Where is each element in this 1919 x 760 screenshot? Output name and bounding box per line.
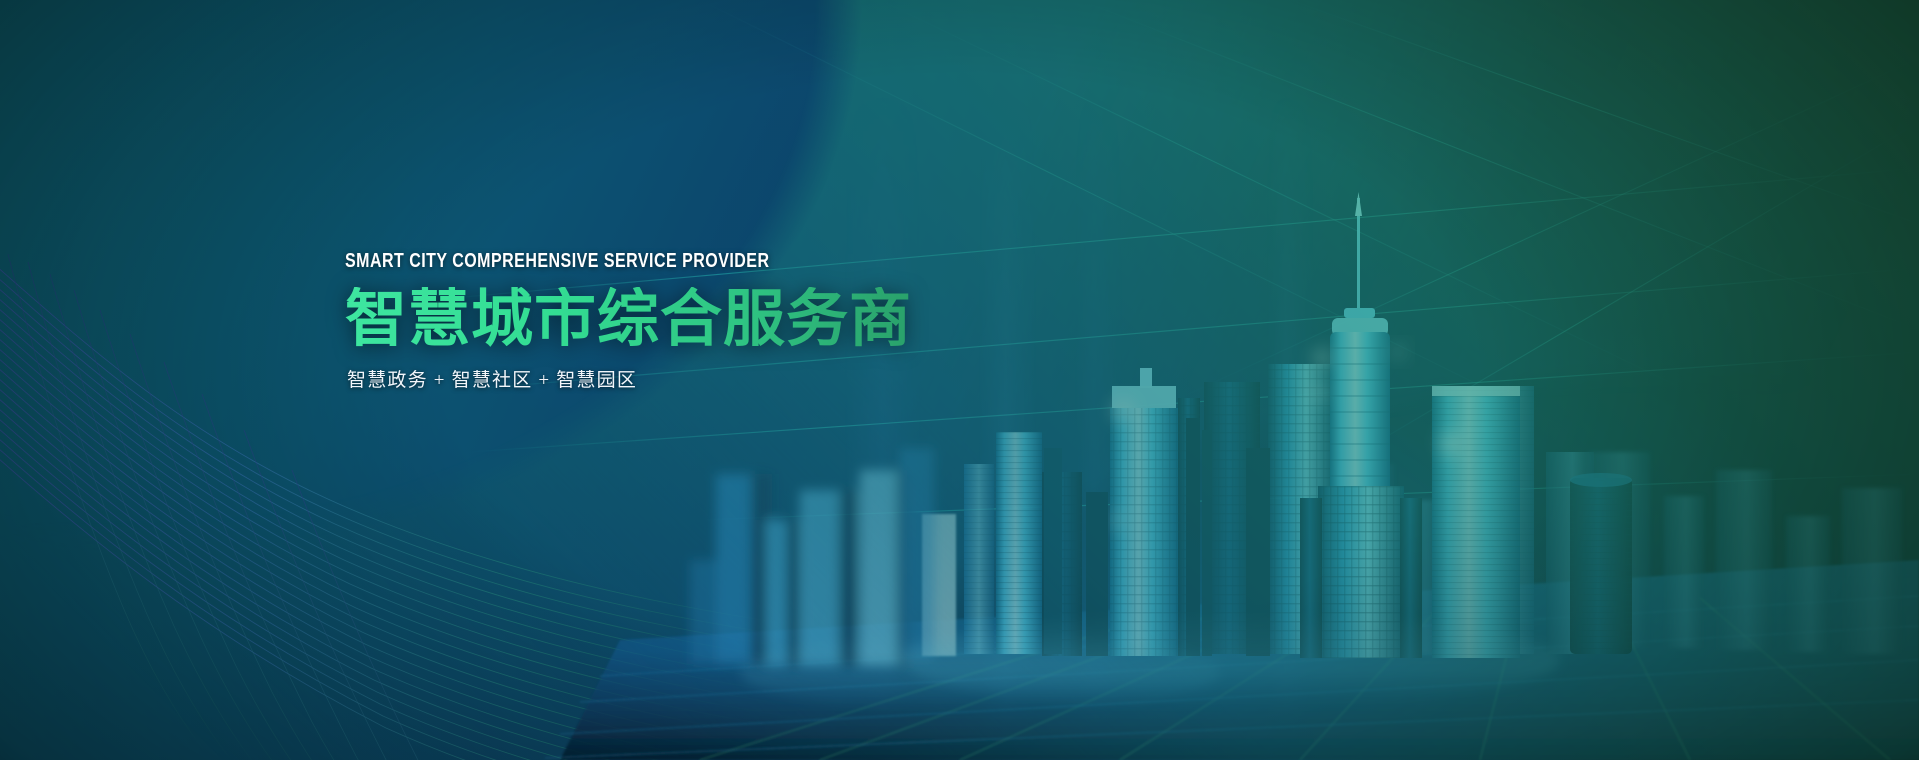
hero-eyebrow-english: SMART CITY COMPREHENSIVE SERVICE PROVIDE…	[345, 250, 857, 273]
foreground-bar-blocks	[690, 448, 934, 666]
far-skyline	[1340, 452, 1902, 654]
round-tower	[1570, 473, 1632, 654]
hero-banner: SMART CITY COMPREHENSIVE SERVICE PROVIDE…	[0, 0, 1919, 760]
landmark-spire-tower	[1300, 192, 1422, 658]
dark-mid-towers	[1042, 418, 1270, 656]
banded-glass-tower	[1432, 386, 1520, 658]
right-tower-cluster	[1204, 364, 1594, 654]
striped-light-building	[964, 432, 1062, 654]
small-pale-block	[922, 514, 956, 656]
hero-text-block: SMART CITY COMPREHENSIVE SERVICE PROVIDE…	[345, 250, 985, 392]
center-slim-tower	[1110, 368, 1200, 656]
hero-subtitle-chinese: 智慧政务 + 智慧社区 + 智慧园区	[347, 365, 985, 392]
hero-headline-chinese: 智慧城市综合服务商	[345, 287, 985, 353]
ground-plane	[545, 560, 1919, 760]
